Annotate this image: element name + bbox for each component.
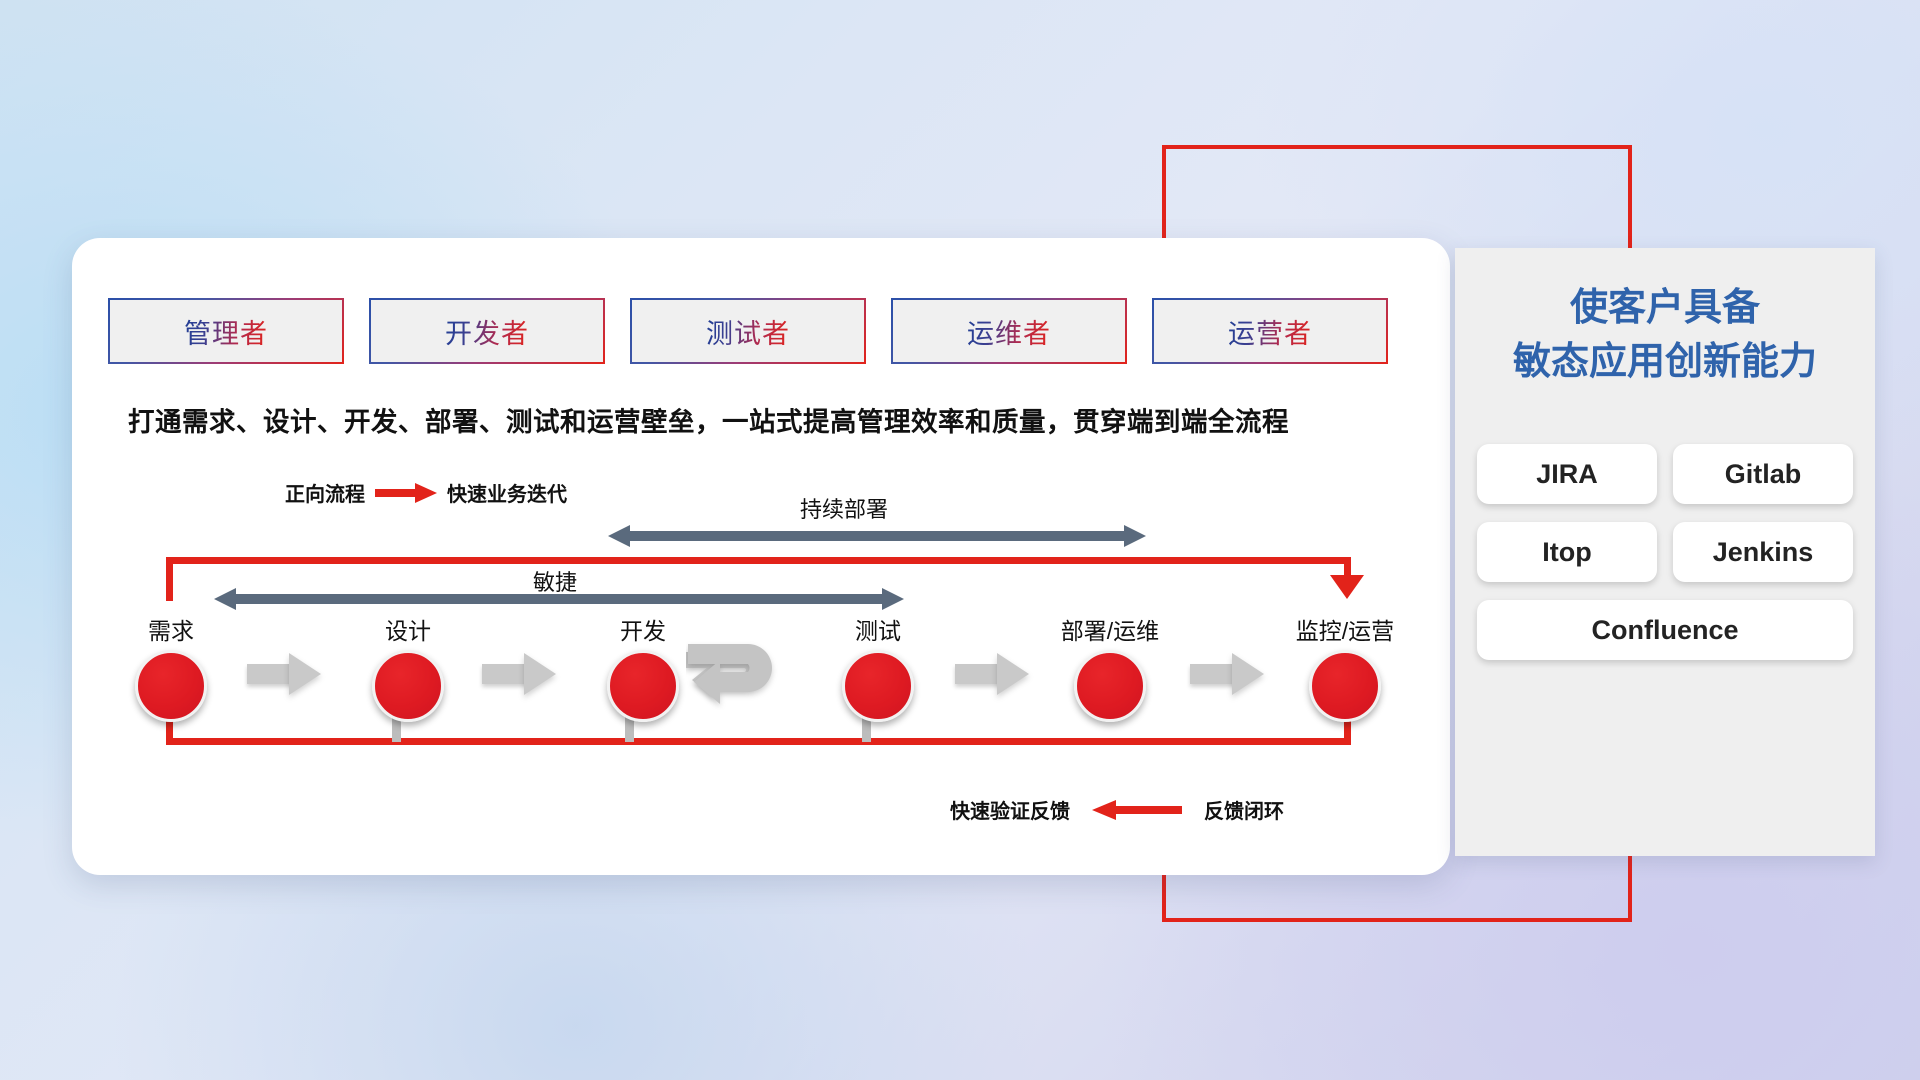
panel-title: 使客户具备 敏态应用创新能力 (1455, 282, 1875, 390)
role-box-tester[interactable]: 测试者 (632, 300, 864, 362)
chevron-arrow-icon (482, 653, 556, 695)
role-label: 管理者 (184, 312, 268, 351)
role-box-ops[interactable]: 运维者 (893, 300, 1125, 362)
red-bracket-bottom (1162, 918, 1632, 922)
double-arrow-continuous-deployment-icon (608, 525, 1146, 547)
role-label: 运营者 (1228, 312, 1312, 351)
pipeline-stage-deploy-ops[interactable]: 部署/运维 (1055, 612, 1165, 722)
pipeline-stage-develop[interactable]: 开发 (588, 612, 698, 722)
stage-dot (1074, 650, 1146, 722)
legend-feedback-loop: 快速验证反馈 反馈闭环 (950, 795, 1284, 824)
chevron-arrow-icon (955, 653, 1029, 695)
tool-pill-jira[interactable]: JIRA (1477, 444, 1657, 504)
role-label: 开发者 (445, 312, 529, 351)
stage-label: 需求 (116, 612, 226, 646)
loop-back-arrow-icon (686, 630, 802, 710)
legend-forward-left-label: 正向流程 (285, 478, 365, 507)
role-label: 运维者 (967, 312, 1051, 351)
legend-feedback-left-label: 快速验证反馈 (950, 795, 1070, 824)
red-loop-arrowhead-down-icon (1330, 575, 1364, 599)
red-arrow-left-icon (1092, 800, 1182, 820)
legend-forward-right-label: 快速业务迭代 (447, 478, 567, 507)
stage-label: 监控/运营 (1290, 612, 1400, 646)
tool-pill-itop[interactable]: Itop (1477, 522, 1657, 582)
pipeline-stage-test[interactable]: 测试 (823, 612, 933, 722)
pipeline-stage-monitor-operate[interactable]: 监控/运营 (1290, 612, 1400, 722)
tool-pill-jenkins[interactable]: Jenkins (1673, 522, 1853, 582)
tool-pill-confluence[interactable]: Confluence (1477, 600, 1853, 660)
legend-feedback-right-label: 反馈闭环 (1204, 795, 1284, 824)
stage-dot (607, 650, 679, 722)
description-text: 打通需求、设计、开发、部署、测试和运营壁垒，一站式提高管理效率和质量，贯穿端到端… (128, 400, 1418, 439)
legend-forward-flow: 正向流程 快速业务迭代 (285, 478, 567, 507)
stage-dot (135, 650, 207, 722)
red-bracket-top (1162, 145, 1632, 149)
chevron-arrow-icon (247, 653, 321, 695)
double-arrow-agile-icon (214, 588, 904, 610)
stage-dot (842, 650, 914, 722)
tool-pill-gitlab[interactable]: Gitlab (1673, 444, 1853, 504)
tool-pill-grid: JIRA Gitlab Itop Jenkins Confluence (1477, 444, 1853, 660)
slide-canvas: 管理者 开发者 测试者 运维者 运营者 打通需求、设计、开发、部署、测试和运营壁… (0, 0, 1920, 1080)
right-panel: 使客户具备 敏态应用创新能力 JIRA Gitlab Itop Jenkins … (1455, 248, 1875, 856)
role-box-developer[interactable]: 开发者 (371, 300, 603, 362)
stage-dot (1309, 650, 1381, 722)
red-loop-top-rail (166, 557, 1351, 564)
chevron-arrow-icon (1190, 653, 1264, 695)
pipeline-stage-requirement[interactable]: 需求 (116, 612, 226, 722)
pipeline-stage-design[interactable]: 设计 (353, 612, 463, 722)
panel-title-line-1: 使客户具备 (1455, 282, 1875, 336)
stage-label: 部署/运维 (1055, 612, 1165, 646)
panel-title-line-2: 敏态应用创新能力 (1455, 336, 1875, 390)
stage-label: 测试 (823, 612, 933, 646)
stage-dot (372, 650, 444, 722)
red-loop-left-segment (166, 557, 173, 601)
role-box-row: 管理者 开发者 测试者 运维者 运营者 (110, 300, 1410, 365)
stage-label: 设计 (353, 612, 463, 646)
role-box-manager[interactable]: 管理者 (110, 300, 342, 362)
stage-label: 开发 (588, 612, 698, 646)
red-arrow-right-icon (375, 483, 437, 503)
role-label: 测试者 (706, 312, 790, 351)
role-box-operations[interactable]: 运营者 (1154, 300, 1386, 362)
span-label-continuous-deployment: 持续部署 (800, 492, 888, 524)
